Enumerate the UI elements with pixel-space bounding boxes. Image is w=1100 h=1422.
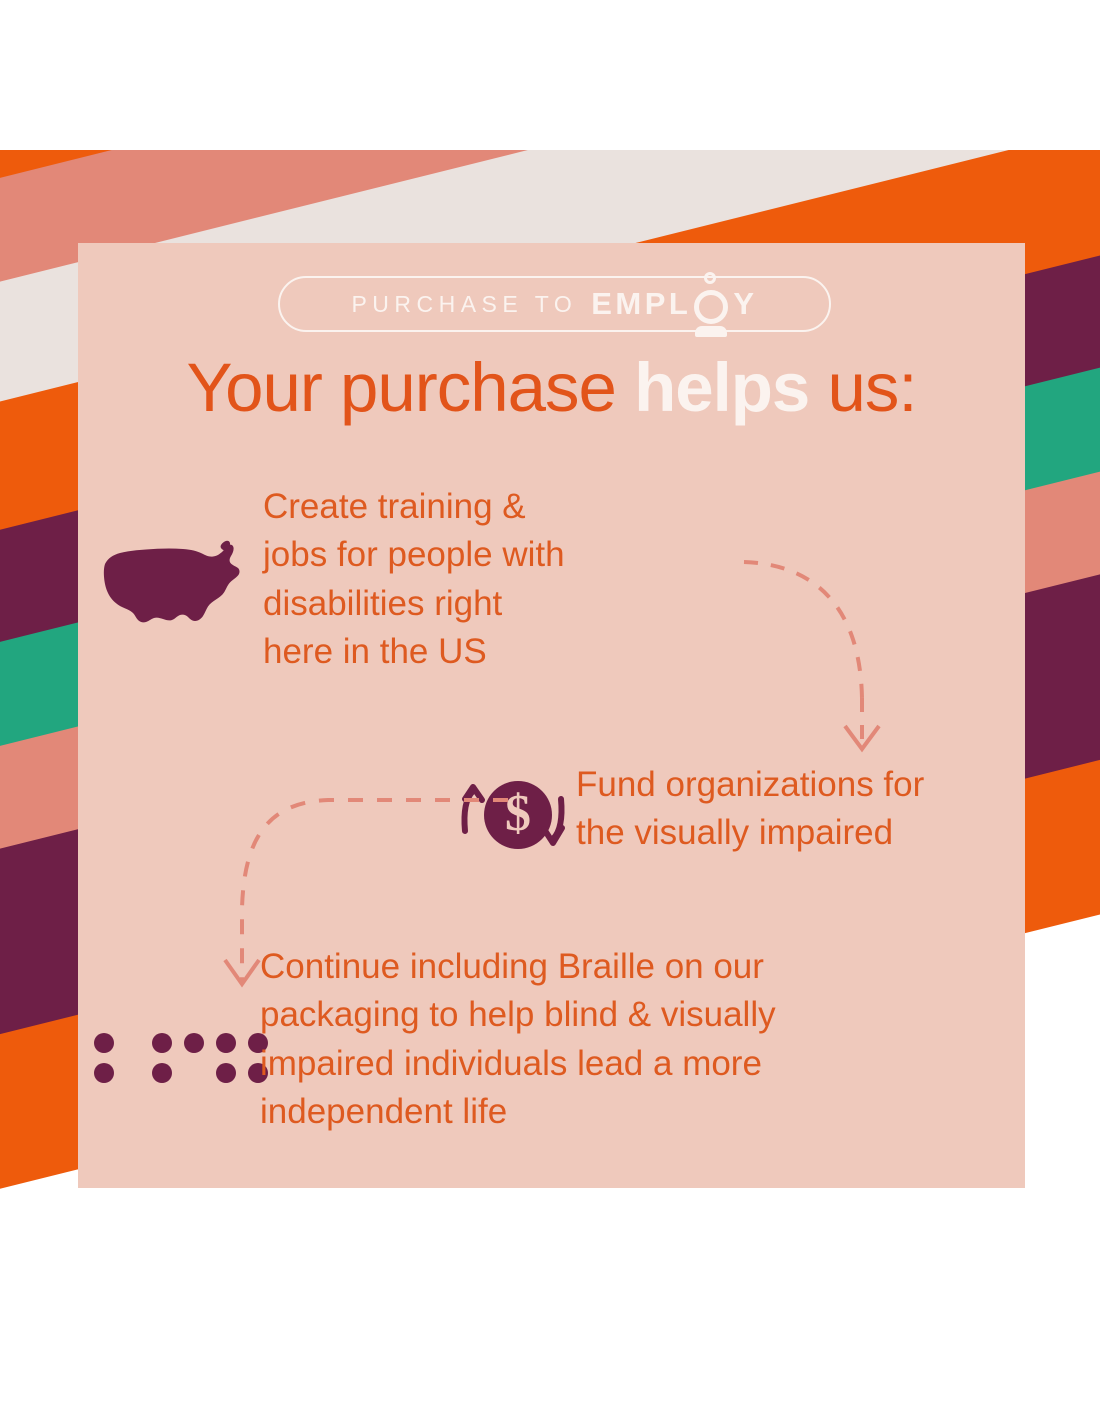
- us-map-icon: [98, 533, 248, 633]
- person-in-circle-icon: [691, 276, 731, 332]
- braille-dot: [94, 1063, 114, 1083]
- brand-logo: PURCHASE TO EMPL Y: [278, 268, 833, 340]
- point-3-text: Continue including Braille on our packag…: [260, 943, 900, 1136]
- dashed-arrow-map-to-coin: [738, 548, 908, 778]
- point-3: Continue including Braille on our packag…: [260, 943, 900, 1136]
- logo-brand-text-after-o: Y: [733, 286, 757, 322]
- letter-o-ring: [694, 290, 728, 324]
- infographic-canvas: PURCHASE TO EMPL Y Your purchase helps u…: [0, 0, 1100, 1422]
- logo-lead-text: PURCHASE TO: [351, 291, 577, 318]
- braille-dot: [152, 1033, 172, 1053]
- person-head-icon: [704, 272, 716, 284]
- logo-brand-text-before-o: EMPL: [591, 286, 691, 322]
- braille-dot: [216, 1033, 236, 1053]
- headline-emphasis: helps: [634, 349, 809, 426]
- braille-dot: [94, 1033, 114, 1053]
- braille-dot: [152, 1063, 172, 1083]
- page-title: Your purchase helps us:: [78, 353, 1025, 422]
- braille-dot: [216, 1063, 236, 1083]
- point-2: Fund organizations for the visually impa…: [576, 761, 1006, 858]
- braille-dots-icon: [94, 1033, 244, 1093]
- headline-part1: Your purchase: [186, 349, 634, 426]
- person-shoulders-icon: [695, 326, 727, 337]
- content-card: PURCHASE TO EMPL Y Your purchase helps u…: [78, 243, 1025, 1188]
- braille-dot: [184, 1033, 204, 1053]
- point-1-text: Create training & jobs for people with d…: [263, 483, 693, 676]
- point-1: Create training & jobs for people with d…: [263, 483, 693, 676]
- headline-part2: us:: [809, 349, 916, 426]
- point-2-text: Fund organizations for the visually impa…: [576, 761, 1006, 858]
- logo-text-group: PURCHASE TO EMPL Y: [278, 276, 831, 332]
